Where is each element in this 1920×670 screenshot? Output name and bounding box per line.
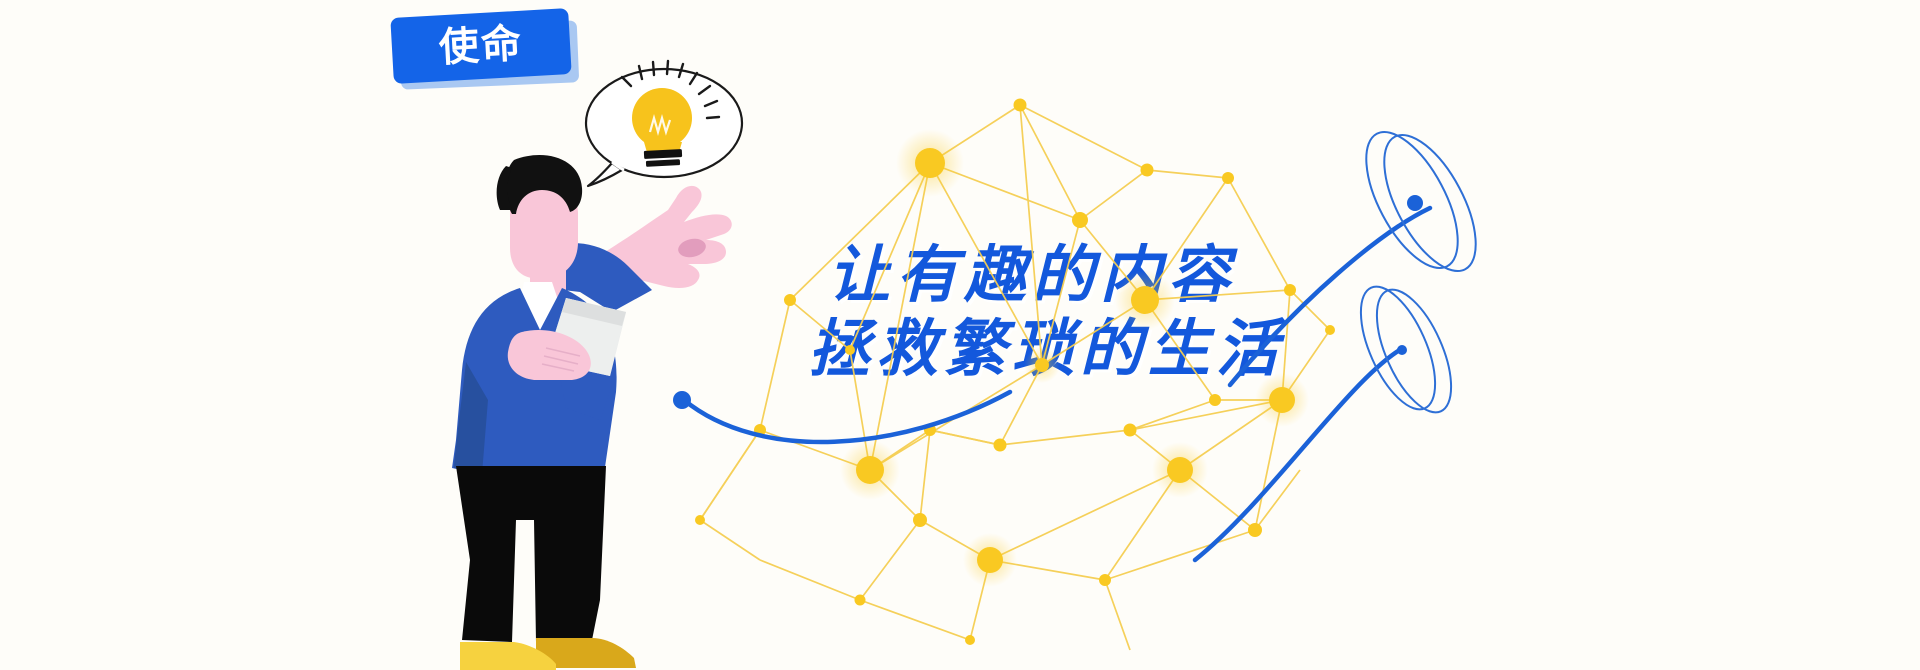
badge-plate: 使命: [390, 8, 571, 84]
mission-badge[interactable]: 使命: [392, 10, 582, 92]
banner-canvas: 让有趣的内容 拯救繁琐的生活 使命: [0, 0, 1920, 670]
badge-layer: 使命: [0, 0, 1920, 670]
badge-label: 使命: [438, 24, 524, 69]
